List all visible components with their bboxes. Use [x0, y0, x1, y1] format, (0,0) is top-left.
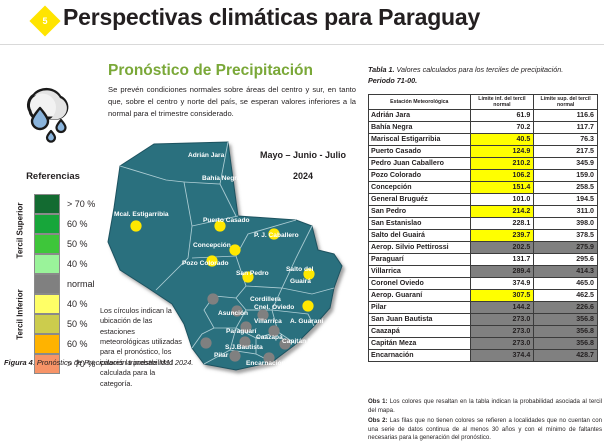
cell-lower-limit: 273.0	[470, 314, 534, 326]
cell-station: San Juan Bautista	[369, 314, 471, 326]
legend-color-swatch	[34, 274, 60, 294]
map-city-label: Adrián Jara	[188, 152, 224, 159]
cell-upper-limit: 117.7	[534, 122, 598, 134]
table-row: San Juan Bautista273.0356.8	[369, 314, 598, 326]
legend-item-label: 60 %	[67, 339, 88, 349]
map-city-label: Salto del	[286, 266, 313, 273]
table-header-row: Estación Meteorológica Límite inf. del t…	[369, 95, 598, 110]
column-header-lower-limit: Límite inf. del tercil normal	[470, 95, 534, 110]
observation-2-label: Obs 2:	[368, 417, 388, 424]
legend-color-swatch	[34, 194, 60, 214]
cell-station: Aerop. Silvio Pettirossi	[369, 242, 471, 254]
legend: Tercil Superior Tercil Inferior > 70 %60…	[8, 194, 108, 356]
table-row: Caazapá273.0356.8	[369, 326, 598, 338]
figure-caption-rest: . Pronóstico de Precipitación trimestre …	[33, 358, 194, 367]
table-row: San Pedro214.2311.0	[369, 206, 598, 218]
table-row: General Bruguéz101.0194.5	[369, 194, 598, 206]
legend-item-label: 60 %	[67, 219, 88, 229]
cell-station: Pozo Colorado	[369, 170, 471, 182]
cell-upper-limit: 116.6	[534, 110, 598, 122]
cell-lower-limit: 289.4	[470, 266, 534, 278]
observation-2-text: Las filas que no tienen colores se refie…	[368, 417, 602, 441]
legend-axis-labels: Tercil Superior Tercil Inferior	[8, 194, 30, 354]
legend-color-swatch	[34, 334, 60, 354]
map-city-label: San Pedro	[236, 270, 269, 277]
legend-item-label: > 70 %	[67, 199, 95, 209]
legend-color-swatch	[34, 314, 60, 334]
legend-color-swatch	[34, 294, 60, 314]
table-row: Capitán Meza273.0356.8	[369, 338, 598, 350]
legend-color-swatch	[34, 214, 60, 234]
figure-caption-bold: Figura 4	[4, 358, 33, 367]
observation-1-text: Los colores que resaltan en la tabla ind…	[368, 398, 602, 414]
map-city-label: Cnel. Oviedo	[254, 304, 294, 311]
cell-upper-limit: 428.7	[534, 350, 598, 362]
table-row: Encarnación374.4428.7	[369, 350, 598, 362]
map-period-label: Mayo – Junio - Julio	[244, 150, 362, 160]
cell-station: Capitán Meza	[369, 338, 471, 350]
map-city-label: Guairá	[290, 278, 311, 285]
cell-station: Villarrica	[369, 266, 471, 278]
section-number-label: 5	[30, 6, 60, 36]
table-observations: Obs 1: Los colores que resaltan en la ta…	[368, 398, 602, 445]
cell-upper-limit: 414.3	[534, 266, 598, 278]
precipitation-title: Pronóstico de Precipitación	[108, 62, 313, 80]
header-divider	[0, 44, 604, 45]
cell-upper-limit: 194.5	[534, 194, 598, 206]
table-row: Mariscal Estigarribia40.576.3	[369, 134, 598, 146]
table-caption-bold-1: Tabla 1.	[368, 65, 395, 74]
cell-station: Mariscal Estigarribia	[369, 134, 471, 146]
cell-lower-limit: 61.9	[470, 110, 534, 122]
cell-station: Encarnación	[369, 350, 471, 362]
table-row: Bahía Negra70.2117.7	[369, 122, 598, 134]
precipitation-panel: Pronóstico de Precipitación Se prevén co…	[0, 46, 360, 400]
table-row: Puerto Casado124.9217.5	[369, 146, 598, 158]
terciles-table: Estación Meteorológica Límite inf. del t…	[368, 94, 598, 362]
map-station-marker[interactable]	[229, 244, 240, 255]
map-station-marker[interactable]	[302, 300, 313, 311]
cell-lower-limit: 210.2	[470, 158, 534, 170]
cell-upper-limit: 311.0	[534, 206, 598, 218]
cell-lower-limit: 151.4	[470, 182, 534, 194]
legend-color-swatch	[34, 254, 60, 274]
cell-lower-limit: 307.5	[470, 290, 534, 302]
table-row: Coronel Oviedo374.9465.0	[369, 278, 598, 290]
cell-upper-limit: 462.5	[534, 290, 598, 302]
observation-1-label: Obs 1:	[368, 398, 388, 405]
map-city-label: Concepción	[193, 242, 231, 249]
map-city-label: Cordillera	[250, 296, 281, 303]
cell-station: Bahía Negra	[369, 122, 471, 134]
cell-lower-limit: 144.2	[470, 302, 534, 314]
observation-1: Obs 1: Los colores que resaltan en la ta…	[368, 398, 602, 415]
map-city-label: P. J. Caballero	[254, 232, 299, 239]
cell-upper-limit: 217.5	[534, 146, 598, 158]
legend-axis-upper-label: Tercil Superior	[16, 195, 25, 267]
map-city-label: Pozo Colorado	[182, 260, 229, 267]
cell-station: Adrián Jara	[369, 110, 471, 122]
cell-lower-limit: 273.0	[470, 326, 534, 338]
legend-item-label: 50 %	[67, 239, 88, 249]
cell-lower-limit: 374.9	[470, 278, 534, 290]
map-city-label: S.J.Bautista	[225, 344, 263, 351]
column-header-station: Estación Meteorológica	[369, 95, 471, 110]
cell-lower-limit: 124.9	[470, 146, 534, 158]
cell-upper-limit: 378.5	[534, 230, 598, 242]
cell-upper-limit: 159.0	[534, 170, 598, 182]
cell-lower-limit: 239.7	[470, 230, 534, 242]
cell-station: Aerop. Guaraní	[369, 290, 471, 302]
table-row: Aerop. Guaraní307.5462.5	[369, 290, 598, 302]
legend-color-swatch	[34, 234, 60, 254]
cell-station: Puerto Casado	[369, 146, 471, 158]
map-station-marker[interactable]	[130, 220, 141, 231]
map-city-label: A. Guaraní	[290, 318, 323, 325]
cell-lower-limit: 228.1	[470, 218, 534, 230]
legend-item-label: 50 %	[67, 319, 88, 329]
cell-upper-limit: 398.0	[534, 218, 598, 230]
table-row: Adrián Jara61.9116.6	[369, 110, 598, 122]
cell-lower-limit: 106.2	[470, 170, 534, 182]
legend-item-label: 40 %	[67, 259, 88, 269]
cell-station: Salto del Guairá	[369, 230, 471, 242]
table-row: Concepción151.4258.5	[369, 182, 598, 194]
cell-station: San Pedro	[369, 206, 471, 218]
map-note: Los círculos indican la ubicación de las…	[100, 306, 186, 389]
map-city-label: Puerto Casado	[203, 217, 250, 224]
cell-lower-limit: 202.5	[470, 242, 534, 254]
legend-axis-lower-label: Tercil Inferior	[16, 279, 25, 351]
table-row: Villarrica289.4414.3	[369, 266, 598, 278]
map-station-marker[interactable]	[200, 337, 211, 348]
map-station-marker[interactable]	[207, 293, 218, 304]
cell-station: Concepción	[369, 182, 471, 194]
cell-lower-limit: 214.2	[470, 206, 534, 218]
rain-cloud-icon	[14, 84, 88, 146]
legend-item-label: normal	[67, 279, 95, 289]
cell-upper-limit: 258.5	[534, 182, 598, 194]
figure-caption: Figura 4. Pronóstico de Precipitación tr…	[4, 358, 356, 367]
cell-upper-limit: 356.8	[534, 326, 598, 338]
cell-lower-limit: 101.0	[470, 194, 534, 206]
cell-upper-limit: 295.6	[534, 254, 598, 266]
cell-station: Caazapá	[369, 326, 471, 338]
map-city-label: Capitán Meza	[282, 338, 324, 345]
map-city-label: Paraguarí	[226, 328, 256, 335]
column-header-upper-limit: Límite sup. del tercil normal	[534, 95, 598, 110]
legend-item-label: 40 %	[67, 299, 88, 309]
precipitation-description: Se prevén condiciones normales sobre áre…	[108, 84, 356, 119]
cell-lower-limit: 273.0	[470, 338, 534, 350]
cell-station: San Estanislao	[369, 218, 471, 230]
map-city-label: Asunción	[218, 310, 248, 317]
page-title: Perspectivas climáticas para Paraguay	[63, 4, 480, 31]
table-row: Pilar144.2226.6	[369, 302, 598, 314]
table-row: Paraguarí131.7295.6	[369, 254, 598, 266]
table-row: Aerop. Silvio Pettirossi202.5275.9	[369, 242, 598, 254]
cell-station: General Bruguéz	[369, 194, 471, 206]
table-row: Salto del Guairá239.7378.5	[369, 230, 598, 242]
cell-lower-limit: 70.2	[470, 122, 534, 134]
section-number-badge: 5	[30, 6, 60, 36]
cell-upper-limit: 226.6	[534, 302, 598, 314]
table-caption-rest-1: Valores calculados para los terciles de …	[395, 65, 564, 74]
cell-upper-limit: 465.0	[534, 278, 598, 290]
observation-2: Obs 2: Las filas que no tienen colores s…	[368, 417, 602, 443]
table-row: Pozo Colorado106.2159.0	[369, 170, 598, 182]
cell-upper-limit: 275.9	[534, 242, 598, 254]
table-row: San Estanislao228.1398.0	[369, 218, 598, 230]
table-caption-bold-2: Periodo 71-00.	[368, 76, 417, 85]
page-header: 5 Perspectivas climáticas para Paraguay	[0, 0, 604, 42]
cell-lower-limit: 131.7	[470, 254, 534, 266]
map-city-label: Villarrica	[254, 318, 282, 325]
cell-lower-limit: 374.4	[470, 350, 534, 362]
legend-title: Referencias	[4, 171, 102, 182]
table-row: Pedro Juan Caballero210.2345.9	[369, 158, 598, 170]
cell-upper-limit: 356.8	[534, 314, 598, 326]
cell-lower-limit: 40.5	[470, 134, 534, 146]
cell-station: Coronel Oviedo	[369, 278, 471, 290]
map-city-label: Mcal. Estigarribia	[114, 211, 169, 218]
cell-station: Paraguarí	[369, 254, 471, 266]
cell-upper-limit: 356.8	[534, 338, 598, 350]
cell-station: Pilar	[369, 302, 471, 314]
terciles-table-panel: Tabla 1. Valores calculados para los ter…	[362, 46, 604, 400]
map-year-label: 2024	[244, 171, 362, 181]
map-city-label: Bahía Negra	[202, 175, 240, 182]
cell-upper-limit: 345.9	[534, 158, 598, 170]
cell-station: Pedro Juan Caballero	[369, 158, 471, 170]
cell-upper-limit: 76.3	[534, 134, 598, 146]
paraguay-forecast-map: Mayo – Junio - Julio 2024 Adrián JaraBah…	[96, 138, 360, 378]
table-caption: Tabla 1. Valores calculados para los ter…	[368, 64, 600, 86]
map-city-label: Caazapá	[256, 334, 283, 341]
